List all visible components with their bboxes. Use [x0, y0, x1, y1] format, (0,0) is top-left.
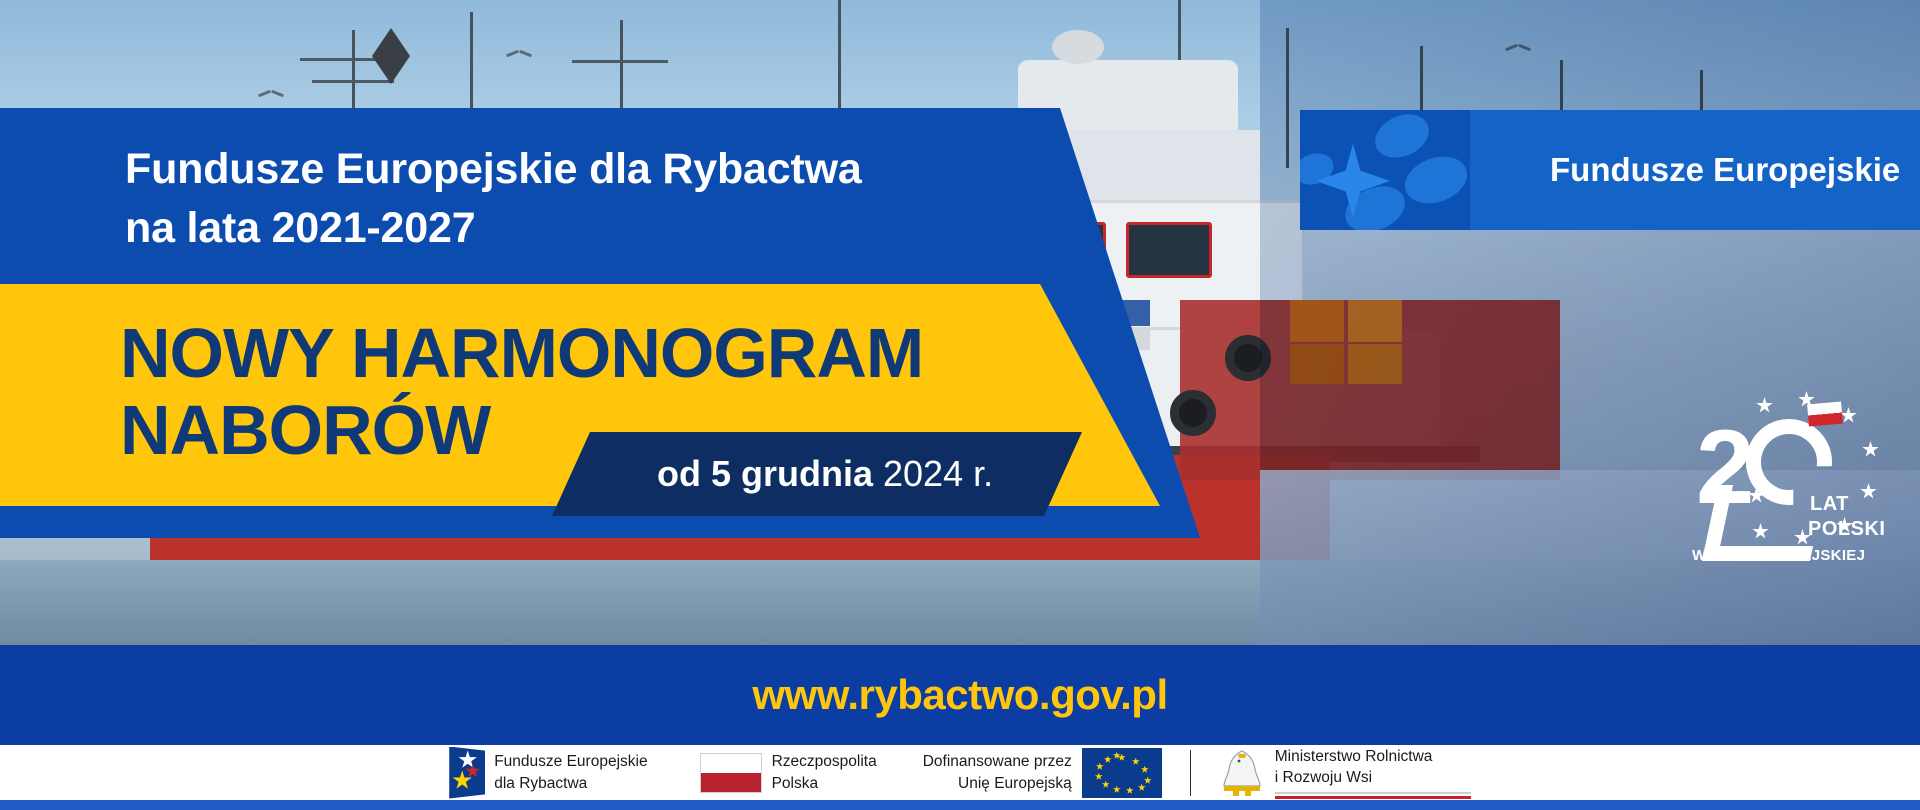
logo-ministerstwo: Ministerstwo Rolnictwa i Rozwoju Wsi [1219, 746, 1471, 800]
date-badge: od 5 grudnia 2024 r. [552, 432, 1082, 516]
bottom-blue-rule [0, 800, 1920, 810]
eu-logo-line-1: Dofinansowane przez [923, 751, 1072, 772]
polish-flag-icon [1807, 402, 1843, 427]
emblem-w-unii-label: W UNII EUROPEJSKIEJ [1692, 547, 1865, 564]
eu-flag-icon [1082, 748, 1162, 798]
headline-line-2: na lata 2021-2027 [125, 199, 1025, 258]
radar-dome [1052, 30, 1104, 64]
footer-logo-bar: Fundusze Europejskie dla Rybactwa Rzeczp… [0, 745, 1920, 800]
rp-logo-line-2: Polska [772, 773, 877, 794]
fe-logo-line-2: dla Rybactwa [494, 773, 647, 794]
promo-banner: Fundusze Europejskie dla Rybactwa na lat… [0, 0, 1920, 810]
headline: Fundusze Europejskie dla Rybactwa na lat… [125, 140, 1025, 259]
main-title-line-1: NOWY HARMONOGRAM [120, 315, 1100, 392]
mast [470, 12, 473, 122]
fe-logo-line-1: Fundusze Europejskie [494, 751, 647, 772]
eu-star-icon [1860, 483, 1877, 500]
polish-flag-icon [700, 753, 762, 793]
footer-divider [1190, 750, 1191, 796]
ministry-rule-red [1275, 796, 1471, 799]
date-text: od 5 grudnia 2024 r. [657, 453, 993, 495]
fe-ornament [1300, 110, 1470, 230]
red-star-icon [465, 764, 480, 779]
eu-star-icon [1862, 441, 1879, 458]
eu-logo-line-2: Unię Europejską [923, 773, 1072, 794]
headline-line-1: Fundusze Europejskie dla Rybactwa [125, 140, 1025, 199]
fe-logo-icon [449, 747, 485, 799]
fe-badge-label: Fundusze Europejskie [1550, 151, 1900, 189]
date-regular: 2024 r. [883, 453, 993, 494]
date-bold: od 5 grudnia [657, 453, 873, 494]
yellow-star-icon [452, 771, 472, 791]
rp-logo-line-1: Rzeczpospolita [772, 751, 877, 772]
20-lat-polski-emblem: 2 LAT POLSKI W UNII EUROPEJSKIEJ [1690, 405, 1890, 580]
ministry-rule-grey [1275, 792, 1471, 794]
seagull [506, 48, 532, 57]
mast-boom [312, 80, 394, 83]
polish-eagle-icon [1219, 748, 1265, 798]
fender-tyre [1170, 390, 1216, 436]
emblem-lat-label: LAT [1810, 493, 1849, 516]
ministry-line-2: i Rozwoju Wsi [1275, 767, 1471, 788]
logo-fundusze-europejskie: Fundusze Europejskie dla Rybactwa [449, 747, 647, 799]
logo-rzeczpospolita-polska: Rzeczpospolita Polska [700, 751, 877, 794]
fundusze-europejskie-badge: Fundusze Europejskie [1300, 110, 1920, 230]
white-star-icon [458, 751, 477, 770]
ministry-label-wrap: Ministerstwo Rolnictwa i Rozwoju Wsi [1275, 746, 1471, 800]
seagull [258, 88, 284, 97]
logo-dofinansowane-ue: Dofinansowane przez Unię Europejską [923, 748, 1162, 798]
mast-boom [572, 60, 668, 63]
emblem-polski-label: POLSKI [1808, 518, 1885, 541]
fe-logo-label: Fundusze Europejskie dla Rybactwa [494, 751, 647, 794]
url-strip: www.rybactwo.gov.pl [0, 645, 1920, 745]
rp-logo-label: Rzeczpospolita Polska [772, 751, 877, 794]
wheelhouse-window [1126, 222, 1212, 278]
ministry-line-1: Ministerstwo Rolnictwa [1275, 746, 1471, 767]
eu-logo-label: Dofinansowane przez Unię Europejską [923, 751, 1072, 794]
website-url[interactable]: www.rybactwo.gov.pl [752, 671, 1167, 719]
